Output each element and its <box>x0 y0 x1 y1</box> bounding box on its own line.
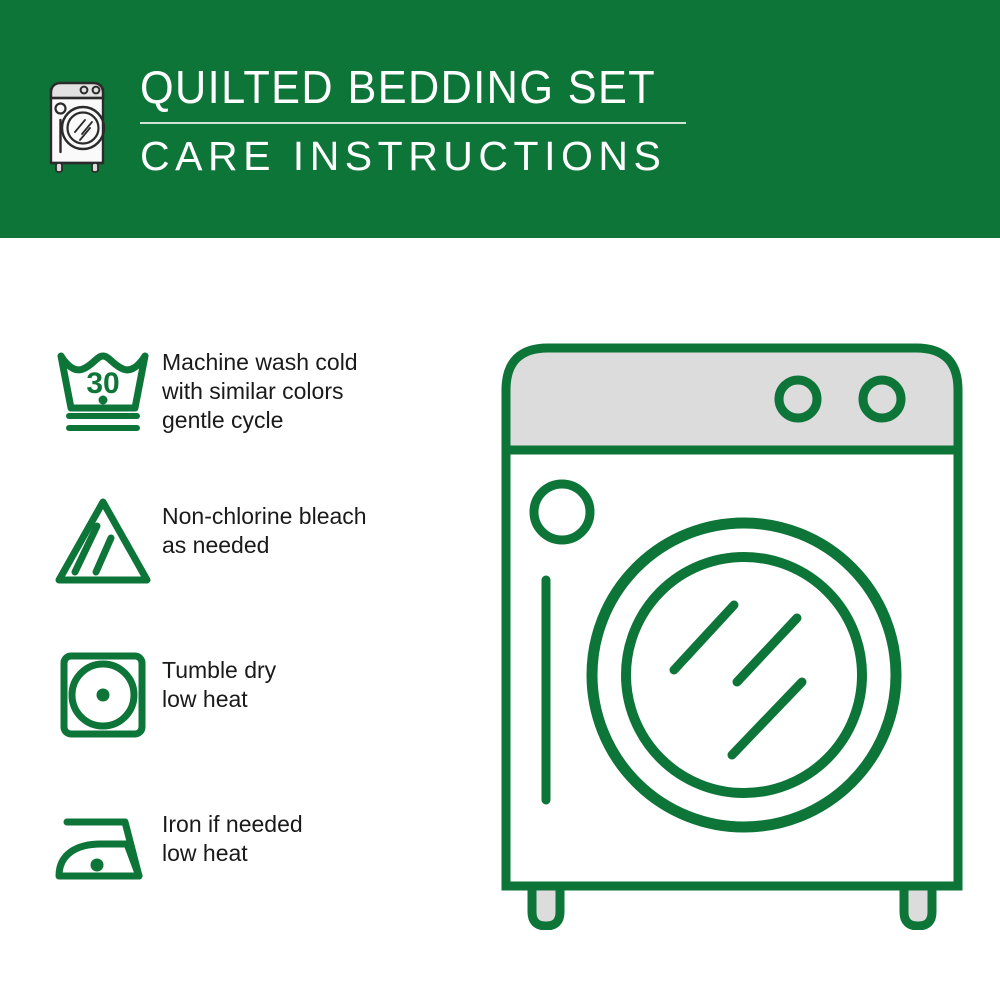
tumble-dry-low-heat-icon <box>44 638 162 744</box>
wash-tub-30-gentle-icon: 30 <box>44 330 162 436</box>
care-label-line: Machine wash cold <box>162 348 358 377</box>
care-label-line: low heat <box>162 685 276 714</box>
care-label-line: gentle cycle <box>162 406 358 435</box>
care-label-line: low heat <box>162 839 303 868</box>
header-band: QUILTED BEDDING SET CARE INSTRUCTIONS <box>0 0 1000 238</box>
page-title: QUILTED BEDDING SET <box>140 62 656 112</box>
non-chlorine-bleach-triangle-icon <box>44 484 162 590</box>
care-label-line: as needed <box>162 531 367 560</box>
iron-low-heat-icon <box>44 792 162 898</box>
care-label-line: Non-chlorine bleach <box>162 502 367 531</box>
care-instructions-infographic: QUILTED BEDDING SET CARE INSTRUCTIONS 30 <box>0 0 1000 1000</box>
care-label-line: Iron if needed <box>162 810 303 839</box>
care-label-bleach: Non-chlorine bleach as needed <box>162 484 367 560</box>
knob-right[interactable] <box>863 380 901 418</box>
care-label-iron: Iron if needed low heat <box>162 792 303 868</box>
care-label-line: Tumble dry <box>162 656 276 685</box>
care-label-line: with similar colors <box>162 377 358 406</box>
care-row-bleach: Non-chlorine bleach as needed <box>44 484 474 594</box>
care-row-iron: Iron if needed low heat <box>44 792 474 902</box>
care-instruction-list: 30 Machine wash cold with similar colors… <box>44 330 474 902</box>
care-row-wash: 30 Machine wash cold with similar colors… <box>44 330 474 440</box>
wash-temperature-value: 30 <box>86 367 119 400</box>
title-divider <box>140 122 686 124</box>
knob-left[interactable] <box>779 380 817 418</box>
page-subtitle: CARE INSTRUCTIONS <box>140 134 689 179</box>
leg-left <box>532 886 560 926</box>
leg-right <box>904 886 932 926</box>
care-label-tumble-dry: Tumble dry low heat <box>162 638 276 714</box>
header-content: QUILTED BEDDING SET CARE INSTRUCTIONS <box>44 62 689 179</box>
header-titles: QUILTED BEDDING SET CARE INSTRUCTIONS <box>140 62 689 179</box>
care-label-wash: Machine wash cold with similar colors ge… <box>162 330 358 435</box>
washing-machine-illustration <box>492 330 972 930</box>
care-row-tumble-dry: Tumble dry low heat <box>44 638 474 748</box>
washing-machine-icon <box>44 68 118 176</box>
